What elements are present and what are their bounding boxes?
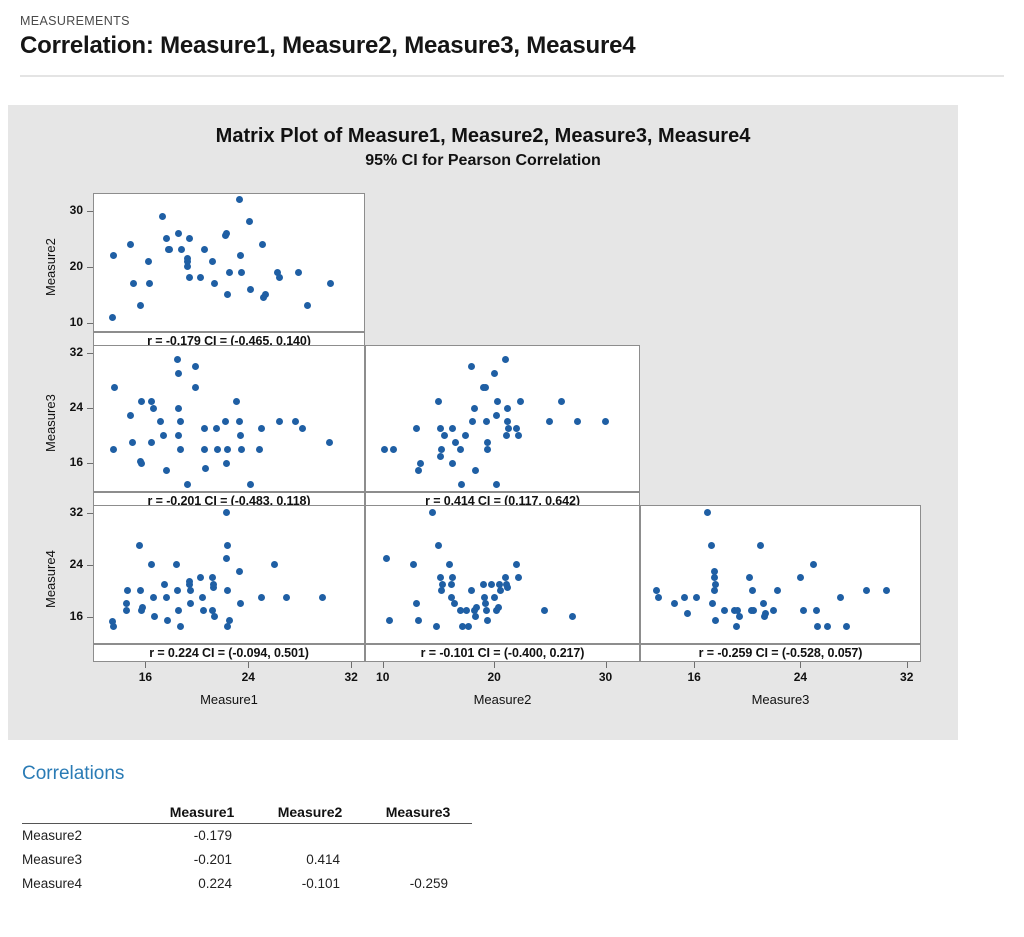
scatter-point: [671, 600, 678, 607]
table-header-row: Measure1 Measure2 Measure3: [22, 802, 472, 824]
correlations-table: Measure1 Measure2 Measure3 Measure2-0.17…: [22, 802, 472, 896]
scatter-point: [127, 412, 134, 419]
scatter-point: [326, 439, 333, 446]
scatter-point: [415, 617, 422, 624]
scatter-point: [746, 574, 753, 581]
scatter-point: [493, 412, 500, 419]
page-title: Correlation: Measure1, Measure2, Measure…: [20, 32, 635, 60]
scatter-point: [209, 258, 216, 265]
scatter-point: [247, 481, 254, 488]
scatter-point: [770, 607, 777, 614]
scatter-point: [137, 302, 144, 309]
y-tick-mark: [87, 617, 93, 618]
row-label: Measure3: [22, 848, 148, 872]
scatter-point: [236, 196, 243, 203]
scatter-point: [276, 274, 283, 281]
scatter-point: [712, 617, 719, 624]
scatter-point: [415, 467, 422, 474]
scatter-point: [139, 604, 146, 611]
scatter-point: [258, 425, 265, 432]
scatter-point: [413, 600, 420, 607]
scatter-point: [159, 213, 166, 220]
scatter-point: [110, 252, 117, 259]
correlation-value: [256, 824, 364, 849]
scatter-point: [299, 425, 306, 432]
scatter-point: [166, 246, 173, 253]
table-header: Measure1 Measure2 Measure3: [22, 802, 472, 824]
scatter-point: [163, 467, 170, 474]
scatter-point: [390, 446, 397, 453]
scatter-point: [463, 607, 470, 614]
scatter-point: [175, 230, 182, 237]
y-axis-label-measure4: Measure4: [43, 550, 58, 608]
plot-area: [366, 346, 639, 491]
scatter-point: [493, 481, 500, 488]
scatter-point: [233, 398, 240, 405]
scatter-point: [546, 418, 553, 425]
scatter-point: [757, 542, 764, 549]
x-tick-mark: [606, 662, 607, 668]
x-tick-label: 16: [674, 670, 714, 684]
scatter-point: [151, 613, 158, 620]
scatter-point: [484, 446, 491, 453]
x-tick-label: 24: [780, 670, 820, 684]
scatter-point: [449, 460, 456, 467]
scatter-point: [410, 561, 417, 568]
scatter-point: [187, 587, 194, 594]
plot-area: [94, 346, 364, 491]
scatter-point: [223, 509, 230, 516]
correlation-value: [364, 848, 472, 872]
scatter-point: [173, 561, 180, 568]
scatter-point: [213, 425, 220, 432]
scatter-point: [837, 594, 844, 601]
scatter-point: [259, 241, 266, 248]
scatter-point: [761, 613, 768, 620]
scatter-point: [465, 623, 472, 630]
scatter-point: [109, 314, 116, 321]
scatter-point: [177, 446, 184, 453]
y-axis-label-measure3: Measure3: [43, 394, 58, 452]
scatter-panel-m4-vs-m2[interactable]: [365, 505, 640, 644]
scatter-point: [148, 439, 155, 446]
scatter-point: [797, 574, 804, 581]
scatter-point: [110, 446, 117, 453]
scatter-point: [137, 587, 144, 594]
x-tick-mark: [907, 662, 908, 668]
correlation-value: -0.259: [364, 872, 472, 896]
scatter-point: [469, 418, 476, 425]
x-tick-mark: [694, 662, 695, 668]
scatter-point: [175, 405, 182, 412]
scatter-point: [111, 384, 118, 391]
scatter-point: [721, 607, 728, 614]
scatter-point: [138, 460, 145, 467]
scatter-point: [704, 509, 711, 516]
y-tick-mark: [87, 323, 93, 324]
scatter-point: [224, 446, 231, 453]
scatter-point: [210, 581, 217, 588]
scatter-point: [483, 418, 490, 425]
scatter-point: [237, 252, 244, 259]
scatter-point: [655, 594, 662, 601]
scatter-point: [283, 594, 290, 601]
scatter-point: [271, 561, 278, 568]
scatter-point: [435, 542, 442, 549]
scatter-point: [163, 235, 170, 242]
row-label: Measure4: [22, 872, 148, 896]
x-tick-mark: [494, 662, 495, 668]
correlation-value: [364, 824, 472, 849]
scatter-point: [468, 587, 475, 594]
scatter-point: [774, 587, 781, 594]
scatter-point: [136, 542, 143, 549]
scatter-point: [708, 542, 715, 549]
scatter-point: [810, 561, 817, 568]
scatter-point: [184, 481, 191, 488]
scatter-point: [733, 623, 740, 630]
correlations-heading: Correlations: [22, 763, 124, 785]
scatter-point: [187, 600, 194, 607]
scatter-point: [246, 218, 253, 225]
scatter-point: [164, 617, 171, 624]
scatter-point: [457, 446, 464, 453]
x-tick-mark: [383, 662, 384, 668]
scatter-point: [148, 398, 155, 405]
scatter-point: [223, 230, 230, 237]
scatter-point: [449, 425, 456, 432]
scatter-point: [438, 446, 445, 453]
y-tick-label: 32: [53, 345, 83, 359]
scatter-point: [429, 509, 436, 516]
scatter-point: [433, 623, 440, 630]
scatter-panel-m3-vs-m1[interactable]: [93, 345, 365, 492]
y-tick-label: 10: [53, 315, 83, 329]
scatter-point: [814, 623, 821, 630]
scatter-point: [224, 291, 231, 298]
scatter-point: [145, 258, 152, 265]
scatter-point: [148, 561, 155, 568]
correlation-value: -0.101: [256, 872, 364, 896]
scatter-point: [515, 432, 522, 439]
scatter-point: [223, 555, 230, 562]
scatter-point: [224, 542, 231, 549]
scatter-point: [711, 587, 718, 594]
x-tick-mark: [351, 662, 352, 668]
scatter-point: [413, 425, 420, 432]
ci-annotation-m4-vs-m3: r = -0.259 CI = (-0.528, 0.057): [640, 644, 921, 662]
scatter-point: [863, 587, 870, 594]
scatter-point: [224, 587, 231, 594]
scatter-point: [199, 594, 206, 601]
scatter-point: [480, 581, 487, 588]
x-tick-label: 32: [887, 670, 927, 684]
scatter-point: [574, 418, 581, 425]
scatter-point: [223, 460, 230, 467]
table-row: Measure3-0.2010.414: [22, 848, 472, 872]
scatter-point: [602, 418, 609, 425]
breadcrumb: MEASUREMENTS: [20, 14, 130, 28]
scatter-point: [482, 384, 489, 391]
scatter-point: [386, 617, 393, 624]
scatter-point: [503, 432, 510, 439]
scatter-point: [150, 594, 157, 601]
table-row: Measure40.224-0.101-0.259: [22, 872, 472, 896]
chart-subtitle: 95% CI for Pearson Correlation: [8, 152, 958, 170]
x-axis-label-measure1: Measure1: [93, 692, 365, 707]
scatter-point: [437, 453, 444, 460]
scatter-point: [177, 418, 184, 425]
x-axis-label-measure3: Measure3: [640, 692, 921, 707]
page-header: MEASUREMENTS Correlation: Measure1, Meas…: [0, 0, 1024, 95]
scatter-point: [541, 607, 548, 614]
scatter-point: [472, 613, 479, 620]
plot-area: [94, 506, 364, 643]
scatter-point: [163, 594, 170, 601]
scatter-point: [504, 405, 511, 412]
scatter-point: [451, 600, 458, 607]
scatter-point: [174, 587, 181, 594]
col-header-measure2: Measure2: [256, 802, 364, 824]
correlation-value: -0.179: [148, 824, 256, 849]
table-row: Measure2-0.179: [22, 824, 472, 849]
scatter-point: [468, 363, 475, 370]
scatter-point: [130, 280, 137, 287]
scatter-point: [438, 587, 445, 594]
scatter-point: [517, 398, 524, 405]
scatter-point: [471, 405, 478, 412]
scatter-point: [435, 398, 442, 405]
scatter-point: [197, 274, 204, 281]
y-tick-label: 30: [53, 203, 83, 217]
scatter-point: [813, 607, 820, 614]
y-tick-label: 16: [53, 609, 83, 623]
scatter-point: [750, 607, 757, 614]
scatter-point: [211, 613, 218, 620]
y-tick-mark: [87, 565, 93, 566]
scatter-point: [123, 607, 130, 614]
scatter-point: [110, 623, 117, 630]
scatter-panel-m3-vs-m2[interactable]: [365, 345, 640, 492]
x-tick-mark: [145, 662, 146, 668]
scatter-point: [184, 263, 191, 270]
y-tick-mark: [87, 211, 93, 212]
x-tick-label: 30: [586, 670, 626, 684]
y-tick-mark: [87, 463, 93, 464]
scatter-point: [237, 432, 244, 439]
scatter-point: [202, 465, 209, 472]
scatter-point: [174, 356, 181, 363]
scatter-point: [383, 555, 390, 562]
scatter-point: [495, 604, 502, 611]
scatter-point: [452, 439, 459, 446]
y-axis-label-measure2: Measure2: [43, 238, 58, 296]
ci-annotation-m4-vs-m2: r = -0.101 CI = (-0.400, 0.217): [365, 644, 640, 662]
scatter-point: [224, 623, 231, 630]
x-tick-mark: [800, 662, 801, 668]
scatter-point: [146, 280, 153, 287]
scatter-point: [192, 363, 199, 370]
scatter-point: [211, 280, 218, 287]
scatter-point: [558, 398, 565, 405]
scatter-point: [129, 439, 136, 446]
scatter-point: [292, 418, 299, 425]
scatter-point: [484, 439, 491, 446]
scatter-point: [449, 574, 456, 581]
scatter-point: [569, 613, 576, 620]
scatter-panel-m4-vs-m3[interactable]: [640, 505, 921, 644]
scatter-panel-m4-vs-m1[interactable]: [93, 505, 365, 644]
scatter-point: [513, 561, 520, 568]
scatter-point: [127, 241, 134, 248]
scatter-point: [462, 432, 469, 439]
scatter-point: [304, 302, 311, 309]
scatter-point: [186, 274, 193, 281]
scatter-point: [381, 446, 388, 453]
scatter-point: [262, 291, 269, 298]
col-header-blank: [22, 802, 148, 824]
y-tick-mark: [87, 353, 93, 354]
scatter-point: [256, 446, 263, 453]
scatter-point: [473, 604, 480, 611]
scatter-point: [494, 398, 501, 405]
scatter-point: [238, 269, 245, 276]
scatter-point: [502, 356, 509, 363]
scatter-point: [160, 432, 167, 439]
scatter-point: [472, 467, 479, 474]
scatter-point: [458, 481, 465, 488]
scatter-point: [201, 446, 208, 453]
x-axis-label-measure2: Measure2: [365, 692, 640, 707]
scatter-point: [186, 235, 193, 242]
scatter-point: [192, 384, 199, 391]
y-tick-label: 16: [53, 455, 83, 469]
scatter-point: [276, 418, 283, 425]
plot-area: [366, 506, 639, 643]
scatter-point: [238, 446, 245, 453]
scatter-point: [484, 617, 491, 624]
correlation-value: -0.201: [148, 848, 256, 872]
scatter-point: [178, 246, 185, 253]
row-label: Measure2: [22, 824, 148, 849]
scatter-point: [800, 607, 807, 614]
scatter-point: [749, 587, 756, 594]
y-tick-label: 32: [53, 505, 83, 519]
scatter-point: [295, 269, 302, 276]
scatter-point: [693, 594, 700, 601]
matrix-plot-graph[interactable]: Matrix Plot of Measure1, Measure2, Measu…: [8, 105, 958, 740]
scatter-point: [446, 561, 453, 568]
scatter-point: [327, 280, 334, 287]
plot-area: [641, 506, 920, 643]
scatter-panel-m2-vs-m1[interactable]: [93, 193, 365, 332]
scatter-point: [760, 600, 767, 607]
x-tick-label: 16: [125, 670, 165, 684]
scatter-point: [175, 370, 182, 377]
scatter-point: [483, 607, 490, 614]
scatter-point: [175, 432, 182, 439]
scatter-point: [236, 568, 243, 575]
scatter-point: [222, 418, 229, 425]
scatter-point: [236, 418, 243, 425]
scatter-point: [515, 574, 522, 581]
scatter-point: [201, 246, 208, 253]
y-tick-mark: [87, 408, 93, 409]
scatter-point: [186, 578, 193, 585]
scatter-point: [150, 405, 157, 412]
scatter-point: [214, 446, 221, 453]
scatter-point: [197, 574, 204, 581]
scatter-point: [684, 610, 691, 617]
scatter-point: [504, 584, 511, 591]
chart-title: Matrix Plot of Measure1, Measure2, Measu…: [8, 125, 958, 148]
scatter-point: [843, 623, 850, 630]
scatter-point: [736, 613, 743, 620]
scatter-point: [883, 587, 890, 594]
scatter-point: [226, 269, 233, 276]
x-tick-label: 24: [228, 670, 268, 684]
scatter-point: [258, 594, 265, 601]
scatter-point: [200, 607, 207, 614]
x-tick-label: 10: [363, 670, 403, 684]
correlation-value: 0.414: [256, 848, 364, 872]
scatter-point: [441, 432, 448, 439]
scatter-point: [824, 623, 831, 630]
scatter-point: [175, 607, 182, 614]
scatter-point: [709, 600, 716, 607]
scatter-point: [319, 594, 326, 601]
scatter-point: [138, 398, 145, 405]
scatter-point: [201, 425, 208, 432]
table-body: Measure2-0.179Measure3-0.2010.414Measure…: [22, 824, 472, 897]
y-tick-mark: [87, 513, 93, 514]
scatter-point: [439, 581, 446, 588]
scatter-point: [161, 581, 168, 588]
col-header-measure1: Measure1: [148, 802, 256, 824]
scatter-point: [448, 581, 455, 588]
x-tick-mark: [248, 662, 249, 668]
scatter-point: [417, 460, 424, 467]
scatter-point: [247, 286, 254, 293]
y-tick-mark: [87, 267, 93, 268]
scatter-point: [177, 623, 184, 630]
scatter-point: [681, 594, 688, 601]
header-divider: [20, 75, 1004, 77]
plot-area: [94, 194, 364, 331]
ci-annotation-m4-vs-m1: r = 0.224 CI = (-0.094, 0.501): [93, 644, 365, 662]
scatter-point: [491, 370, 498, 377]
scatter-point: [124, 587, 131, 594]
scatter-point: [237, 600, 244, 607]
col-header-measure3: Measure3: [364, 802, 472, 824]
scatter-point: [488, 581, 495, 588]
scatter-point: [157, 418, 164, 425]
x-tick-label: 20: [474, 670, 514, 684]
correlation-value: 0.224: [148, 872, 256, 896]
scatter-point: [491, 594, 498, 601]
